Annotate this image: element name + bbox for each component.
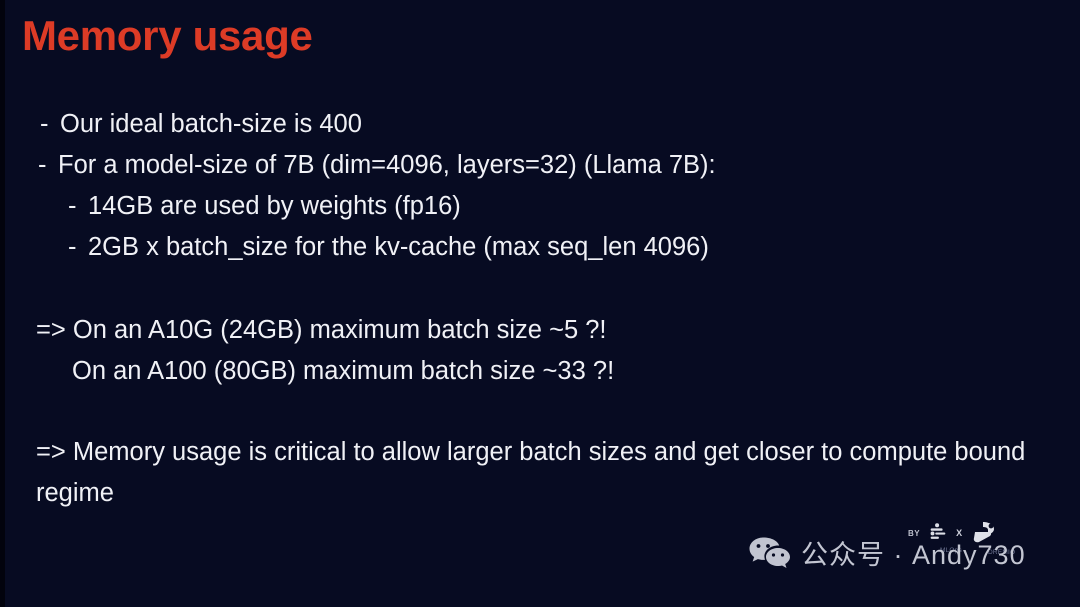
conclusion-memory-critical: => Memory usage is critical to allow lar… bbox=[0, 432, 1046, 514]
conclusion-a100: On an A100 (80GB) maximum batch size ~33… bbox=[0, 351, 1080, 392]
bullet-dash-icon: - bbox=[38, 145, 58, 186]
sub-bullet-item-weights: -14GB are used by weights (fp16) bbox=[0, 186, 1080, 227]
bullet-dash-icon: - bbox=[40, 104, 60, 145]
bullet-text: For a model-size of 7B (dim=4096, layers… bbox=[58, 151, 716, 179]
spacer bbox=[0, 392, 1080, 432]
bullet-text: Our ideal batch-size is 400 bbox=[60, 110, 362, 138]
conclusion-a10g: => On an A10G (24GB) maximum batch size … bbox=[0, 310, 1080, 351]
wechat-watermark: 公众号 · Andy730 bbox=[748, 533, 1026, 572]
sub-bullet-item-kv-cache: -2GB x batch_size for the kv-cache (max … bbox=[0, 227, 1080, 268]
bullet-item-ideal-batch-size: -Our ideal batch-size is 400 bbox=[0, 104, 1080, 145]
bullet-dash-icon: - bbox=[68, 227, 88, 268]
spacer bbox=[0, 268, 1080, 310]
sub-bullet-text: 14GB are used by weights (fp16) bbox=[88, 192, 461, 220]
watermark-text: 公众号 · Andy730 bbox=[801, 533, 1026, 572]
bullet-dash-icon: - bbox=[68, 186, 88, 227]
slide-canvas: Memory usage -Our ideal batch-size is 40… bbox=[0, 0, 1080, 607]
bullet-item-model-size: -For a model-size of 7B (dim=4096, layer… bbox=[0, 145, 1080, 186]
sub-bullet-text: 2GB x batch_size for the kv-cache (max s… bbox=[88, 233, 709, 261]
wechat-icon bbox=[748, 536, 792, 570]
slide-body: -Our ideal batch-size is 400 -For a mode… bbox=[0, 104, 1080, 514]
page-title: Memory usage bbox=[22, 12, 313, 60]
